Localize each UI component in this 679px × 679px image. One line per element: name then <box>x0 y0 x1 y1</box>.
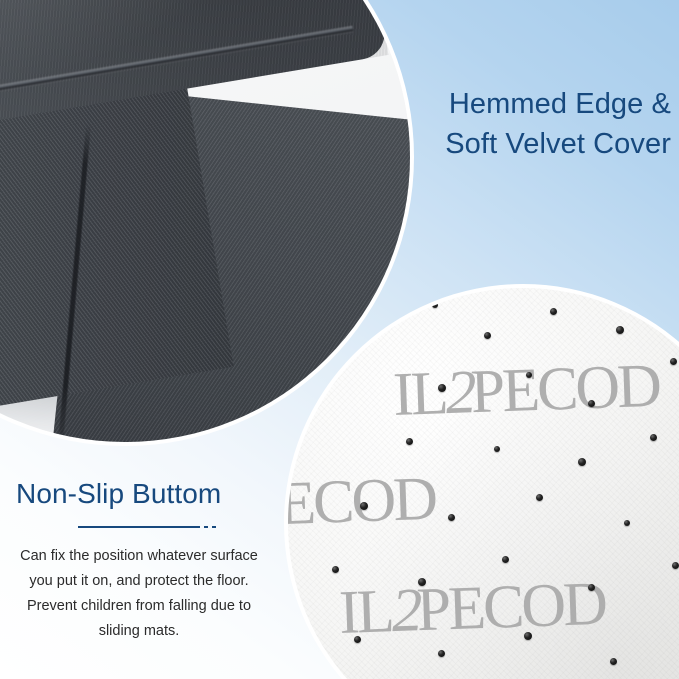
mat-silicone-dot <box>616 326 624 334</box>
feature-body-non-slip: Can fix the position whatever surface yo… <box>8 544 270 644</box>
mat-silicone-dot <box>438 650 445 657</box>
feature-body-line2: you put it on, and protect the floor. <box>29 573 248 589</box>
mat-brand-watermark: IL2PECOD <box>338 569 606 649</box>
mat-silicone-dot <box>588 584 595 591</box>
feature-body-line4: sliding mats. <box>99 623 180 639</box>
mat-silicone-dot <box>354 636 361 643</box>
mat-silicone-dot <box>672 562 679 569</box>
mat-silicone-dot <box>406 438 413 445</box>
divider-dot <box>204 526 208 528</box>
feature-block-non-slip: Non-Slip Buttom Can fix the position wha… <box>8 476 270 644</box>
feature-heading-hemmed-line1: Hemmed Edge & <box>291 84 671 124</box>
mat-silicone-dot <box>670 358 677 365</box>
mat-silicone-dot <box>588 400 595 407</box>
mat-silicone-dot <box>624 520 630 526</box>
mat-silicone-dot <box>524 632 532 640</box>
divider-dot <box>212 526 216 528</box>
feature-heading-hemmed-line2: Soft Velvet Cover <box>291 124 671 164</box>
mat-silicone-dot <box>432 302 438 308</box>
mat-silicone-dot <box>578 458 586 466</box>
feature-heading-hemmed-edge: Hemmed Edge & Soft Velvet Cover <box>291 84 671 164</box>
feature-heading-non-slip: Non-Slip Buttom <box>8 476 270 512</box>
product-feature-image: IL2PECOD 2ECOD IL2PECOD Hemmed Edge & So… <box>0 0 679 679</box>
mat-silicone-dot <box>550 308 557 315</box>
mat-silicone-dot <box>332 566 339 573</box>
photo-circle-nonslip-mat: IL2PECOD 2ECOD IL2PECOD <box>288 288 679 679</box>
mat-silicone-dot <box>418 578 426 586</box>
mat-fabric-surface: IL2PECOD 2ECOD IL2PECOD <box>288 288 679 679</box>
mat-silicone-dot <box>610 658 617 665</box>
feature-body-line1: Can fix the position whatever surface <box>20 548 258 564</box>
mat-silicone-dot <box>448 514 455 521</box>
mat-silicone-dot <box>502 556 509 563</box>
mat-brand-watermark: IL2PECOD <box>392 351 660 431</box>
feature-body-line3: Prevent children from falling due to <box>27 598 251 614</box>
mat-silicone-dot <box>360 502 368 510</box>
mat-silicone-dot <box>536 494 543 501</box>
mat-silicone-dot <box>650 434 657 441</box>
mat-silicone-dot <box>438 384 446 392</box>
divider-line <box>78 526 200 528</box>
mat-silicone-dot <box>484 332 491 339</box>
heading-divider <box>8 526 270 528</box>
mat-silicone-dot <box>494 446 500 452</box>
mat-silicone-dot <box>526 372 532 378</box>
